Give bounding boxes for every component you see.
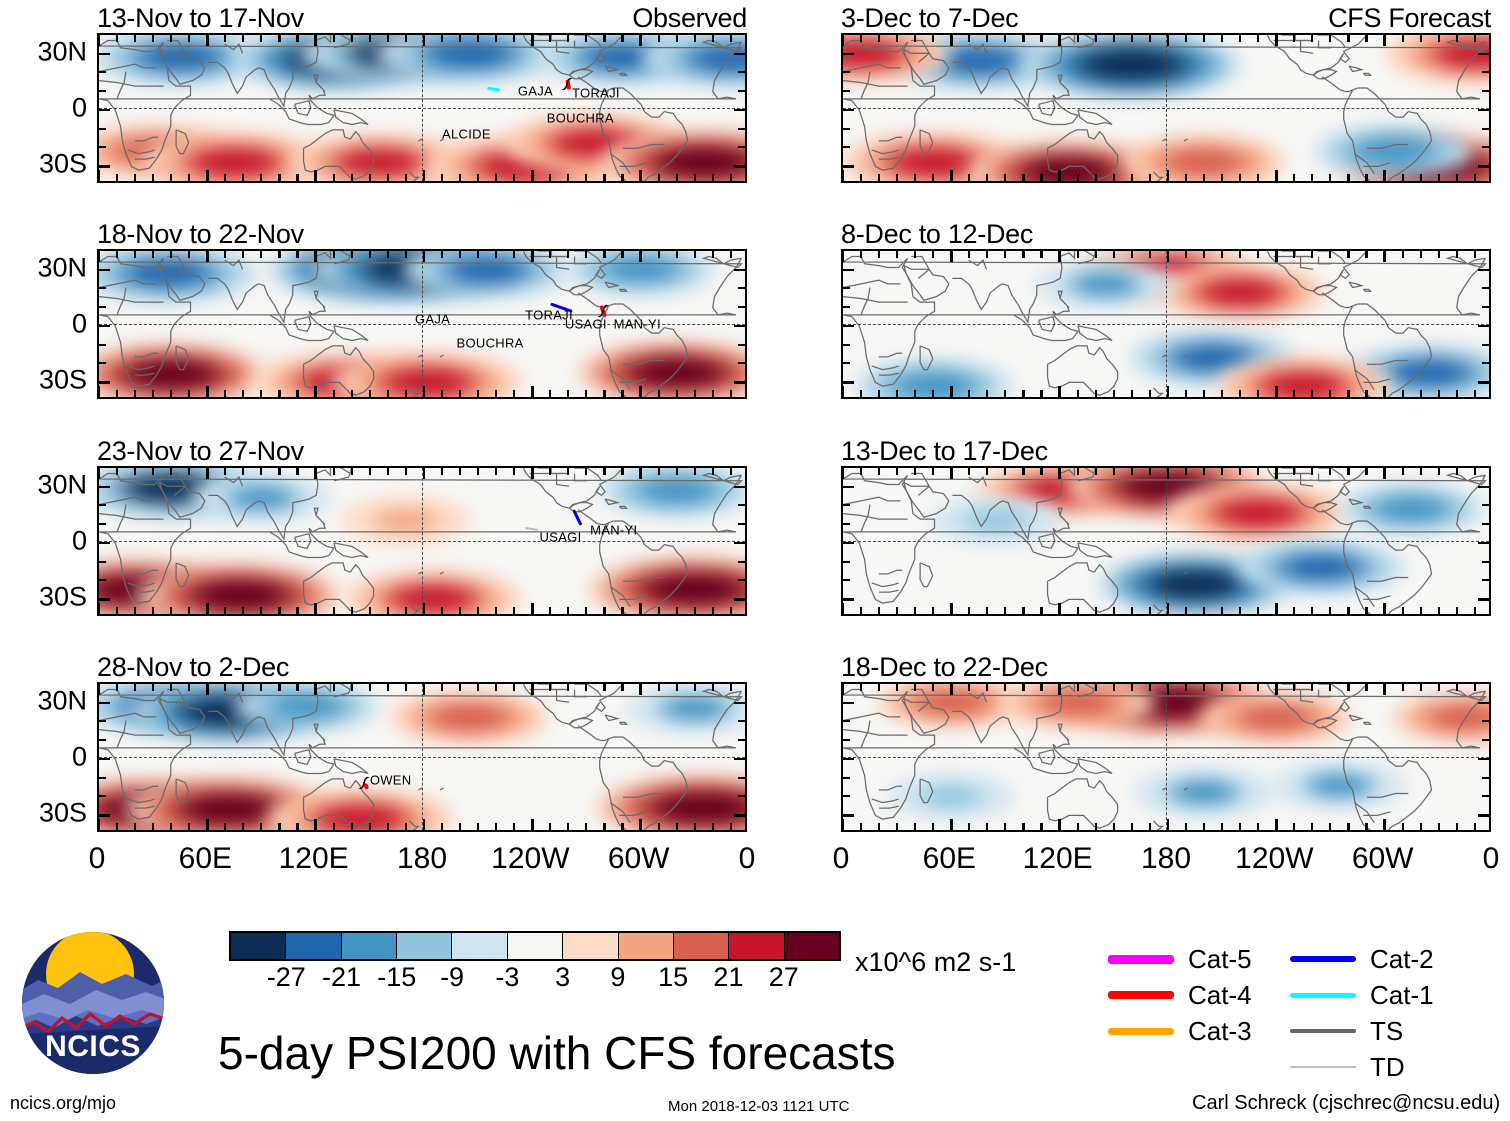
axis-tick xyxy=(1420,251,1422,258)
axis-tick xyxy=(694,35,696,42)
axis-tick xyxy=(1438,684,1440,691)
axis-tick xyxy=(843,165,854,168)
axis-tick xyxy=(621,174,623,181)
axis-tick xyxy=(1474,251,1476,258)
axis-tick xyxy=(603,684,605,691)
x-tick-label: 0 xyxy=(739,844,756,874)
axis-tick xyxy=(116,35,118,42)
storm-label: BOUCHRA xyxy=(547,111,614,124)
axis-tick xyxy=(1402,390,1404,397)
axis-tick xyxy=(224,468,226,475)
axis-tick xyxy=(1347,823,1349,830)
map-obs-3: USAGIMAN-YI xyxy=(97,466,747,616)
axis-tick xyxy=(1456,468,1458,475)
axis-tick xyxy=(1185,468,1187,475)
ncics-logo: NCICS xyxy=(18,928,168,1083)
axis-tick xyxy=(116,684,118,691)
axis-tick xyxy=(1478,325,1489,328)
y-tick-label: 30N xyxy=(37,254,87,281)
axis-tick xyxy=(459,468,461,475)
axis-tick xyxy=(968,468,970,475)
axis-tick xyxy=(224,390,226,397)
axis-tick xyxy=(1221,607,1223,614)
y-tick-label: 0 xyxy=(72,311,87,338)
axis-tick xyxy=(531,468,534,479)
axis-tick xyxy=(1478,381,1489,384)
colorbar-tick-label: 3 xyxy=(555,964,570,991)
axis-tick xyxy=(1275,35,1278,46)
map-obs-4: OWEN xyxy=(97,682,747,832)
axis-tick xyxy=(99,146,106,148)
x-tick-label: 180 xyxy=(397,844,447,874)
axis-tick xyxy=(896,390,898,397)
axis-tick xyxy=(842,251,845,262)
axis-tick xyxy=(531,819,534,830)
storm-label: USAGI xyxy=(565,318,607,331)
axis-tick xyxy=(99,109,110,112)
axis-tick xyxy=(843,90,850,92)
axis-tick xyxy=(843,504,850,506)
axis-tick xyxy=(206,386,209,397)
panel-title-cfs-3: 13-Dec to 17-Dec xyxy=(841,438,1048,465)
axis-tick xyxy=(730,468,732,475)
axis-tick xyxy=(676,468,678,475)
axis-tick xyxy=(405,174,407,181)
axis-tick xyxy=(986,35,988,42)
axis-tick xyxy=(116,174,118,181)
axis-tick xyxy=(405,390,407,397)
axis-tick xyxy=(206,819,209,830)
axis-tick xyxy=(712,251,714,258)
axis-tick xyxy=(351,174,353,181)
axis-tick xyxy=(950,468,953,479)
map-cfs-2 xyxy=(841,249,1491,399)
axis-tick xyxy=(369,607,371,614)
axis-tick xyxy=(676,35,678,42)
storm-label: BOUCHRA xyxy=(457,336,524,349)
axis-tick xyxy=(170,468,172,475)
axis-tick xyxy=(658,390,660,397)
axis-tick xyxy=(843,381,854,384)
axis-tick xyxy=(968,390,970,397)
figure-canvas: 13-Nov to 17-NovObservedGAJATORAJIBOUCHR… xyxy=(0,0,1510,1121)
axis-tick xyxy=(1275,684,1278,695)
axis-tick xyxy=(1347,251,1349,258)
axis-tick xyxy=(1456,684,1458,691)
axis-tick xyxy=(242,468,244,475)
axis-tick xyxy=(694,823,696,830)
axis-tick xyxy=(585,251,587,258)
axis-tick xyxy=(296,823,298,830)
axis-tick xyxy=(477,390,479,397)
axis-tick xyxy=(260,823,262,830)
axis-tick xyxy=(99,362,106,364)
axis-tick xyxy=(1482,362,1489,364)
axis-tick xyxy=(333,251,335,258)
axis-tick xyxy=(914,823,916,830)
axis-tick xyxy=(932,174,934,181)
axis-tick xyxy=(1420,684,1422,691)
axis-tick xyxy=(1203,35,1205,42)
axis-tick xyxy=(843,702,854,705)
axis-tick xyxy=(387,607,389,614)
axis-tick xyxy=(1095,468,1097,475)
axis-tick xyxy=(99,165,110,168)
axis-tick xyxy=(694,468,696,475)
axis-tick xyxy=(242,823,244,830)
axis-tick xyxy=(549,251,551,258)
axis-tick xyxy=(1275,251,1278,262)
axis-tick xyxy=(531,603,534,614)
axis-tick xyxy=(1239,251,1241,258)
axis-tick xyxy=(738,306,745,308)
axis-tick xyxy=(134,468,136,475)
axis-tick xyxy=(477,607,479,614)
dateline xyxy=(422,684,423,830)
axis-tick xyxy=(1257,174,1259,181)
map-cfs-3 xyxy=(841,466,1491,616)
axis-tick xyxy=(639,819,642,830)
axis-tick xyxy=(387,174,389,181)
axis-tick xyxy=(1149,174,1151,181)
axis-tick xyxy=(1058,386,1061,397)
axis-tick xyxy=(224,35,226,42)
axis-tick xyxy=(1203,174,1205,181)
axis-tick xyxy=(1203,251,1205,258)
axis-tick xyxy=(842,819,845,830)
axis-tick xyxy=(842,35,845,46)
axis-tick xyxy=(1420,390,1422,397)
axis-tick xyxy=(387,251,389,258)
axis-tick xyxy=(843,814,854,817)
axis-tick xyxy=(1365,35,1367,42)
axis-tick xyxy=(1347,35,1349,42)
legend-item-ts: TS xyxy=(1290,1018,1403,1044)
axis-tick xyxy=(314,386,317,397)
x-tick-label: 120E xyxy=(279,844,349,874)
axis-tick xyxy=(116,607,118,614)
column-header-observed: Observed xyxy=(632,5,747,32)
panel-title-cfs-2: 8-Dec to 12-Dec xyxy=(841,221,1033,248)
axis-tick xyxy=(843,287,850,289)
axis-tick xyxy=(495,468,497,475)
storm-label: OWEN xyxy=(370,773,412,786)
axis-tick xyxy=(1203,607,1205,614)
axis-tick xyxy=(387,684,389,691)
axis-tick xyxy=(567,251,569,258)
axis-tick xyxy=(99,325,110,328)
legend-label: Cat-5 xyxy=(1188,946,1252,972)
axis-tick xyxy=(878,251,880,258)
axis-tick xyxy=(1022,823,1024,830)
axis-tick xyxy=(1131,823,1133,830)
axis-tick xyxy=(738,795,745,797)
axis-tick xyxy=(1311,823,1313,830)
x-tick-label: 60E xyxy=(923,844,976,874)
axis-tick xyxy=(567,390,569,397)
axis-tick xyxy=(513,390,515,397)
anomaly-field-obs-2: GAJATORAJIUSAGIMAN-YIBOUCHRA xyxy=(99,251,745,397)
axis-tick xyxy=(968,607,970,614)
axis-tick xyxy=(314,35,317,46)
axis-tick xyxy=(1203,468,1205,475)
axis-tick xyxy=(843,109,854,112)
y-tick-label: 30S xyxy=(39,584,87,611)
axis-tick xyxy=(1383,35,1386,46)
axis-tick xyxy=(351,390,353,397)
axis-tick xyxy=(296,390,298,397)
axis-tick xyxy=(1113,468,1115,475)
colorbar-swatch xyxy=(785,933,839,959)
axis-tick xyxy=(1482,561,1489,563)
axis-tick xyxy=(224,607,226,614)
axis-tick xyxy=(738,287,745,289)
axis-tick xyxy=(1293,174,1295,181)
axis-tick xyxy=(1113,390,1115,397)
axis-tick xyxy=(896,174,898,181)
axis-tick xyxy=(549,684,551,691)
axis-tick xyxy=(1167,35,1170,46)
axis-tick xyxy=(99,795,106,797)
axis-tick xyxy=(152,390,154,397)
map-obs-1: GAJATORAJIBOUCHRAALCIDE xyxy=(97,33,747,183)
axis-tick xyxy=(98,170,101,181)
axis-tick xyxy=(296,468,298,475)
storm-label: ALCIDE xyxy=(442,128,491,141)
x-tick-label: 60W xyxy=(608,844,670,874)
axis-tick xyxy=(1185,174,1187,181)
legend-line-swatch xyxy=(1290,1029,1356,1033)
axis-tick xyxy=(1293,468,1295,475)
axis-tick xyxy=(585,174,587,181)
x-tick-label: 0 xyxy=(1483,844,1500,874)
axis-tick xyxy=(99,504,106,506)
axis-tick xyxy=(134,684,136,691)
axis-tick xyxy=(878,823,880,830)
axis-tick xyxy=(1293,607,1295,614)
axis-tick xyxy=(206,251,209,262)
axis-tick xyxy=(621,468,623,475)
axis-tick xyxy=(1257,684,1259,691)
axis-tick xyxy=(738,128,745,130)
axis-tick xyxy=(860,607,862,614)
axis-tick xyxy=(242,251,244,258)
axis-tick xyxy=(738,146,745,148)
axis-tick xyxy=(351,35,353,42)
anomaly-field-obs-4: OWEN xyxy=(99,684,745,830)
axis-tick xyxy=(1482,795,1489,797)
panel-obs-2: 18-Nov to 22-NovGAJATORAJIUSAGIMAN-YIBOU… xyxy=(97,249,747,399)
axis-tick xyxy=(738,344,745,346)
axis-tick xyxy=(1438,823,1440,830)
axis-tick xyxy=(1004,251,1006,258)
axis-tick xyxy=(99,542,110,545)
axis-tick xyxy=(738,777,745,779)
axis-tick xyxy=(459,35,461,42)
axis-tick xyxy=(152,251,154,258)
axis-tick xyxy=(932,251,934,258)
axis-tick xyxy=(968,684,970,691)
axis-tick xyxy=(1167,819,1170,830)
axis-tick xyxy=(1347,468,1349,475)
axis-tick xyxy=(1149,684,1151,691)
axis-tick xyxy=(1365,174,1367,181)
axis-tick xyxy=(1113,607,1115,614)
axis-tick xyxy=(730,823,732,830)
axis-tick xyxy=(1365,823,1367,830)
axis-tick xyxy=(1095,607,1097,614)
colorbar-swatch xyxy=(563,933,618,959)
axis-tick xyxy=(1113,35,1115,42)
axis-tick xyxy=(1365,607,1367,614)
axis-tick xyxy=(1077,823,1079,830)
axis-tick xyxy=(1167,603,1170,614)
axis-tick xyxy=(1478,109,1489,112)
axis-tick xyxy=(896,468,898,475)
axis-tick xyxy=(730,390,732,397)
axis-tick xyxy=(738,561,745,563)
axis-tick xyxy=(658,823,660,830)
axis-tick xyxy=(738,90,745,92)
colorbar-tick-label: -9 xyxy=(440,964,464,991)
axis-tick xyxy=(188,251,190,258)
axis-tick xyxy=(1221,35,1223,42)
axis-tick xyxy=(1167,251,1170,262)
axis-tick xyxy=(1040,35,1042,42)
axis-tick xyxy=(843,486,854,489)
axis-tick xyxy=(1022,390,1024,397)
axis-tick xyxy=(694,174,696,181)
axis-tick xyxy=(99,579,106,581)
axis-tick xyxy=(152,823,154,830)
axis-tick xyxy=(531,386,534,397)
axis-tick xyxy=(134,174,136,181)
axis-tick xyxy=(1438,251,1440,258)
axis-tick xyxy=(1149,251,1151,258)
axis-tick xyxy=(513,468,515,475)
axis-tick xyxy=(1004,684,1006,691)
axis-tick xyxy=(1478,814,1489,817)
axis-tick xyxy=(860,251,862,258)
axis-tick xyxy=(441,174,443,181)
axis-tick xyxy=(1257,251,1259,258)
x-tick-label: 120W xyxy=(491,844,569,874)
axis-tick xyxy=(1203,823,1205,830)
axis-tick xyxy=(1040,684,1042,691)
axis-tick xyxy=(1383,819,1386,830)
axis-tick xyxy=(843,758,854,761)
axis-tick xyxy=(224,251,226,258)
axis-tick xyxy=(843,523,850,525)
axis-tick xyxy=(1095,251,1097,258)
axis-tick xyxy=(712,684,714,691)
axis-tick xyxy=(842,684,845,695)
storm-label: TORAJI xyxy=(572,87,620,100)
axis-tick xyxy=(441,251,443,258)
axis-tick xyxy=(387,468,389,475)
axis-tick xyxy=(1113,174,1115,181)
axis-tick xyxy=(639,35,642,46)
site-url[interactable]: ncics.org/mjo xyxy=(10,1094,116,1112)
axis-tick xyxy=(738,720,745,722)
axis-tick xyxy=(843,325,854,328)
axis-tick xyxy=(170,390,172,397)
storm-label: USAGI xyxy=(540,531,582,544)
colorbar-tick-label: 15 xyxy=(658,964,688,991)
axis-tick xyxy=(513,684,515,691)
axis-tick xyxy=(1383,386,1386,397)
axis-tick xyxy=(459,174,461,181)
anomaly-field-cfs-2 xyxy=(843,251,1489,397)
axis-tick xyxy=(1482,90,1489,92)
axis-tick xyxy=(1478,542,1489,545)
axis-tick xyxy=(1095,174,1097,181)
axis-tick xyxy=(1438,390,1440,397)
axis-tick xyxy=(1095,684,1097,691)
axis-tick xyxy=(567,684,569,691)
axis-tick xyxy=(260,684,262,691)
axis-tick xyxy=(99,128,106,130)
axis-tick xyxy=(405,468,407,475)
axis-tick xyxy=(495,607,497,614)
axis-tick xyxy=(423,386,426,397)
axis-tick xyxy=(1058,35,1061,46)
axis-tick xyxy=(585,823,587,830)
axis-tick xyxy=(1077,174,1079,181)
anomaly-field-cfs-4 xyxy=(843,684,1489,830)
axis-tick xyxy=(1203,390,1205,397)
axis-tick xyxy=(1149,823,1151,830)
axis-tick xyxy=(549,35,551,42)
axis-tick xyxy=(1040,390,1042,397)
axis-tick xyxy=(734,598,745,601)
colorbar-tick-label: 27 xyxy=(769,964,799,991)
axis-tick xyxy=(1456,390,1458,397)
axis-tick xyxy=(639,684,642,695)
axis-tick xyxy=(1482,344,1489,346)
axis-tick xyxy=(314,819,317,830)
axis-tick xyxy=(1365,251,1367,258)
anomaly-field-obs-3: USAGIMAN-YI xyxy=(99,468,745,614)
anomaly-field-cfs-1 xyxy=(843,35,1489,181)
axis-tick xyxy=(1221,468,1223,475)
panel-title-obs-3: 23-Nov to 27-Nov xyxy=(97,438,304,465)
axis-tick xyxy=(968,35,970,42)
y-tick-label: 30S xyxy=(39,151,87,178)
axis-tick xyxy=(242,35,244,42)
legend-item-cat-4: Cat-4 xyxy=(1108,982,1252,1008)
axis-tick xyxy=(423,35,426,46)
axis-tick xyxy=(170,174,172,181)
axis-tick xyxy=(639,386,642,397)
axis-tick xyxy=(1058,170,1061,181)
axis-tick xyxy=(98,35,101,46)
axis-tick xyxy=(333,174,335,181)
axis-tick xyxy=(1402,607,1404,614)
axis-tick xyxy=(1482,128,1489,130)
x-tick-label: 120E xyxy=(1023,844,1093,874)
legend-item-td: TD xyxy=(1290,1054,1405,1080)
axis-tick xyxy=(1040,607,1042,614)
axis-tick xyxy=(459,607,461,614)
axis-tick xyxy=(405,823,407,830)
axis-tick xyxy=(152,468,154,475)
axis-tick xyxy=(603,174,605,181)
axis-tick xyxy=(1167,684,1170,695)
axis-tick xyxy=(621,684,623,691)
axis-tick xyxy=(621,823,623,830)
axis-tick xyxy=(1474,174,1476,181)
